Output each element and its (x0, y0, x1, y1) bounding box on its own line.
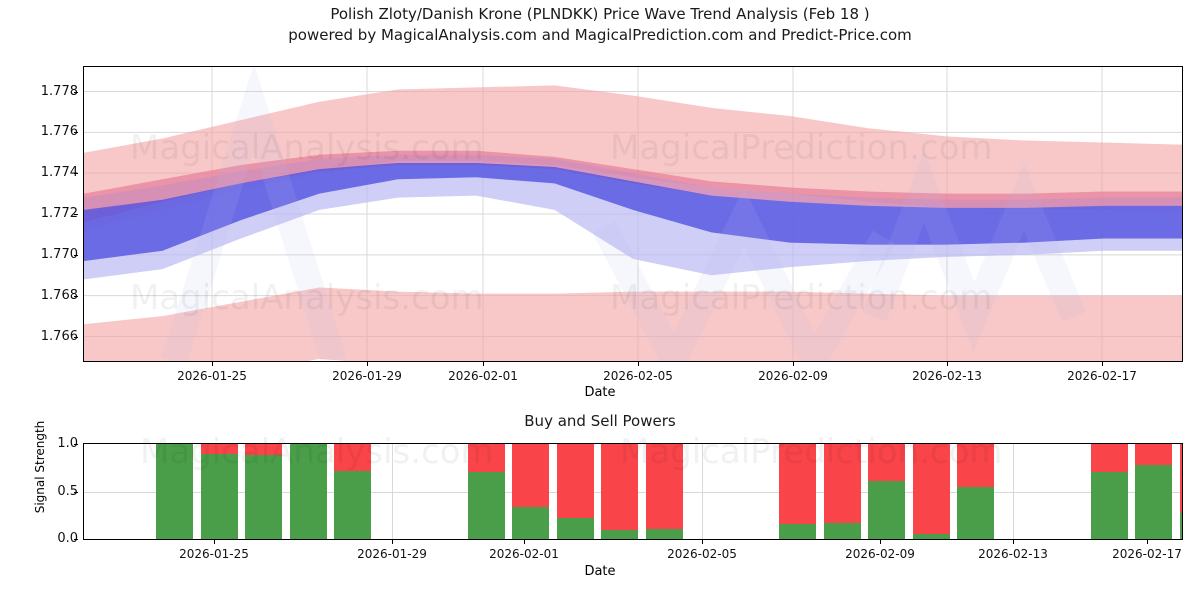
price-x-tick-mark (793, 362, 794, 366)
price-x-tick-label: 2026-02-09 (758, 369, 828, 383)
signal-bar-sell-segment (601, 444, 638, 530)
signal-bar-buy-segment (1180, 513, 1183, 539)
signal-bar-buy-segment (913, 534, 950, 539)
signal-bar-sell-segment (913, 444, 950, 534)
signal-bar[interactable] (201, 444, 238, 539)
signal-bar[interactable] (334, 444, 371, 539)
price-y-tick-mark (74, 214, 78, 215)
signal-x-tick-label: 2026-02-13 (978, 547, 1048, 561)
signal-bar[interactable] (245, 444, 282, 539)
signal-bar-sell-segment (201, 444, 238, 454)
signal-bar[interactable] (779, 444, 816, 539)
price-x-tick-label: 2026-02-17 (1067, 369, 1137, 383)
price-x-tick-mark (212, 362, 213, 366)
signal-x-tick-mark (392, 540, 393, 544)
signal-bar[interactable] (156, 444, 193, 539)
signal-x-tick-mark (524, 540, 525, 544)
signal-bar-buy-segment (646, 529, 683, 539)
signal-bar-buy-segment (468, 472, 505, 539)
signal-gridline-vertical (392, 444, 393, 539)
price-x-tick-mark (638, 362, 639, 366)
signal-bar-buy-segment (334, 471, 371, 539)
price-y-tick-mark (74, 173, 78, 174)
signal-y-tick-label: 0.5 (8, 484, 78, 499)
price-x-tick-mark (1102, 362, 1103, 366)
signal-gridline-vertical (702, 444, 703, 539)
price-y-axis-ticks: 1.7661.7681.7701.7721.7741.7761.778 (0, 66, 78, 362)
price-wave-trend-chart: Price 1.7661.7681.7701.7721.7741.7761.77… (0, 55, 1200, 405)
signal-bar-buy-segment (290, 444, 327, 539)
signal-bar-sell-segment (557, 444, 594, 518)
signal-y-tick-mark (74, 492, 78, 493)
price-x-tick-label: 2026-02-13 (912, 369, 982, 383)
signal-bar[interactable] (913, 444, 950, 539)
signal-bar[interactable] (1180, 444, 1183, 539)
signal-gridline-vertical (1013, 444, 1014, 539)
price-y-tick-label: 1.768 (8, 288, 78, 303)
signal-y-axis-ticks: 0.00.51.0 (0, 443, 78, 540)
signal-plot-area (83, 443, 1183, 540)
price-plot-area (83, 66, 1183, 362)
signal-x-axis-label: Date (0, 564, 1200, 579)
page-title: Polish Zloty/Danish Krone (PLNDKK) Price… (0, 4, 1200, 46)
signal-bar[interactable] (290, 444, 327, 539)
signal-bar-sell-segment (468, 444, 505, 472)
signal-x-tick-label: 2026-01-29 (357, 547, 427, 561)
signal-bar-sell-segment (779, 444, 816, 524)
price-x-axis-ticks: 2026-01-252026-01-292026-02-012026-02-05… (83, 362, 1183, 386)
signal-x-tick-mark (880, 540, 881, 544)
signal-bar-buy-segment (824, 523, 861, 539)
signal-y-tick-label: 1.0 (8, 436, 78, 451)
signal-bar[interactable] (957, 444, 994, 539)
signal-bar-buy-segment (156, 444, 193, 539)
price-y-tick-label: 1.772 (8, 206, 78, 221)
signal-x-tick-label: 2026-02-17 (1112, 547, 1182, 561)
signal-chart-title: Buy and Sell Powers (0, 412, 1200, 430)
title-line-2: powered by MagicalAnalysis.com and Magic… (0, 25, 1200, 46)
signal-x-axis-ticks: 2026-01-252026-01-292026-02-012026-02-05… (83, 540, 1183, 564)
title-line-1: Polish Zloty/Danish Krone (PLNDKK) Price… (0, 4, 1200, 25)
signal-x-tick-label: 2026-02-01 (489, 547, 559, 561)
price-y-tick-label: 1.770 (8, 247, 78, 262)
price-bands-svg (84, 67, 1182, 361)
signal-bar[interactable] (824, 444, 861, 539)
price-x-tick-label: 2026-02-05 (603, 369, 673, 383)
price-x-tick-label: 2026-02-01 (448, 369, 518, 383)
signal-bar-sell-segment (1135, 444, 1172, 465)
signal-bar-buy-segment (957, 487, 994, 539)
signal-bar-sell-segment (646, 444, 683, 529)
signal-bar-buy-segment (201, 454, 238, 540)
signal-bar-buy-segment (245, 455, 282, 539)
signal-bar-buy-segment (1091, 472, 1128, 539)
signal-y-tick-mark (74, 444, 78, 445)
buy-sell-powers-chart: Buy and Sell Powers Signal Strength 0.00… (0, 412, 1200, 600)
signal-bar-sell-segment (245, 444, 282, 455)
signal-bar[interactable] (646, 444, 683, 539)
signal-bar[interactable] (1135, 444, 1172, 539)
signal-bar-buy-segment (1135, 465, 1172, 539)
signal-x-tick-mark (1013, 540, 1014, 544)
price-x-tick-mark (483, 362, 484, 366)
price-x-tick-label: 2026-01-25 (177, 369, 247, 383)
price-y-tick-label: 1.766 (8, 329, 78, 344)
signal-bar-sell-segment (334, 444, 371, 471)
signal-bar[interactable] (601, 444, 638, 539)
price-y-tick-mark (74, 296, 78, 297)
signal-bar-sell-segment (1180, 444, 1183, 513)
price-y-tick-mark (74, 92, 78, 93)
price-y-tick-label: 1.774 (8, 165, 78, 180)
signal-bar-sell-segment (868, 444, 905, 481)
price-y-tick-mark (74, 132, 78, 133)
signal-bar[interactable] (468, 444, 505, 539)
signal-bar-sell-segment (824, 444, 861, 523)
signal-bar[interactable] (1091, 444, 1128, 539)
signal-bar-sell-segment (512, 444, 549, 507)
signal-y-tick-mark (74, 539, 78, 540)
price-x-tick-mark (367, 362, 368, 366)
price-x-tick-mark (947, 362, 948, 366)
signal-x-tick-label: 2026-02-05 (667, 547, 737, 561)
signal-bar-sell-segment (957, 444, 994, 487)
price-x-tick-label: 2026-01-29 (332, 369, 402, 383)
signal-x-tick-label: 2026-01-25 (179, 547, 249, 561)
chart-page: Polish Zloty/Danish Krone (PLNDKK) Price… (0, 0, 1200, 600)
price-y-tick-label: 1.776 (8, 124, 78, 139)
signal-bar-buy-segment (512, 507, 549, 539)
price-y-tick-mark (74, 255, 78, 256)
signal-bar-buy-segment (557, 518, 594, 539)
price-y-tick-mark (74, 337, 78, 338)
signal-y-tick-label: 0.0 (8, 531, 78, 546)
signal-bar-buy-segment (601, 530, 638, 540)
signal-bar-buy-segment (868, 481, 905, 539)
signal-bar-sell-segment (1091, 444, 1128, 472)
signal-bar[interactable] (512, 444, 549, 539)
signal-x-tick-mark (1147, 540, 1148, 544)
signal-x-tick-mark (214, 540, 215, 544)
signal-x-tick-mark (702, 540, 703, 544)
signal-bar[interactable] (557, 444, 594, 539)
price-y-tick-label: 1.778 (8, 84, 78, 99)
signal-x-tick-label: 2026-02-09 (845, 547, 915, 561)
signal-bar[interactable] (868, 444, 905, 539)
signal-bar-buy-segment (779, 524, 816, 539)
price-x-axis-label: Date (0, 385, 1200, 400)
